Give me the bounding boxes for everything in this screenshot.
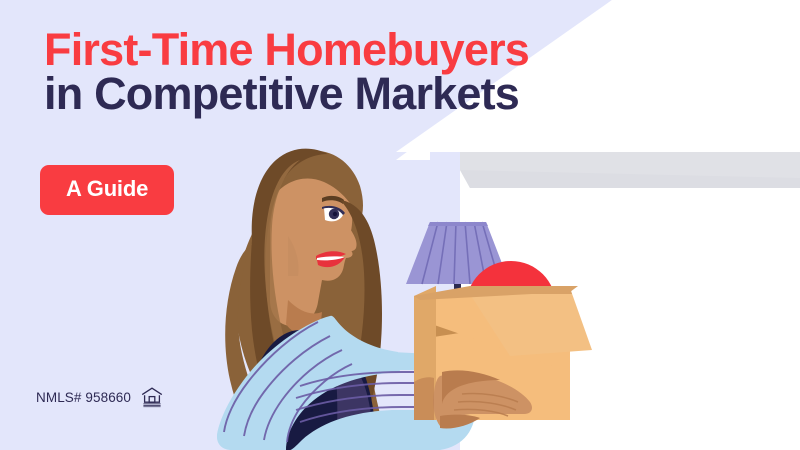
lamp-shade-top-edge [428, 222, 488, 226]
eye-pupil [333, 212, 337, 216]
hand-support-left [414, 377, 434, 420]
equal-housing-opportunity-icon [140, 385, 164, 409]
headline-line-2: in Competitive Markets [44, 72, 684, 116]
guide-badge[interactable]: A Guide [40, 165, 174, 215]
page-title: First-Time Homebuyers in Competitive Mar… [44, 28, 684, 116]
headline-line-1: First-Time Homebuyers [44, 28, 684, 72]
nmls-number: NMLS# 958660 [36, 390, 131, 405]
hero-banner: First-Time Homebuyers in Competitive Mar… [0, 0, 800, 450]
footer-disclosure: NMLS# 958660 [36, 385, 164, 409]
